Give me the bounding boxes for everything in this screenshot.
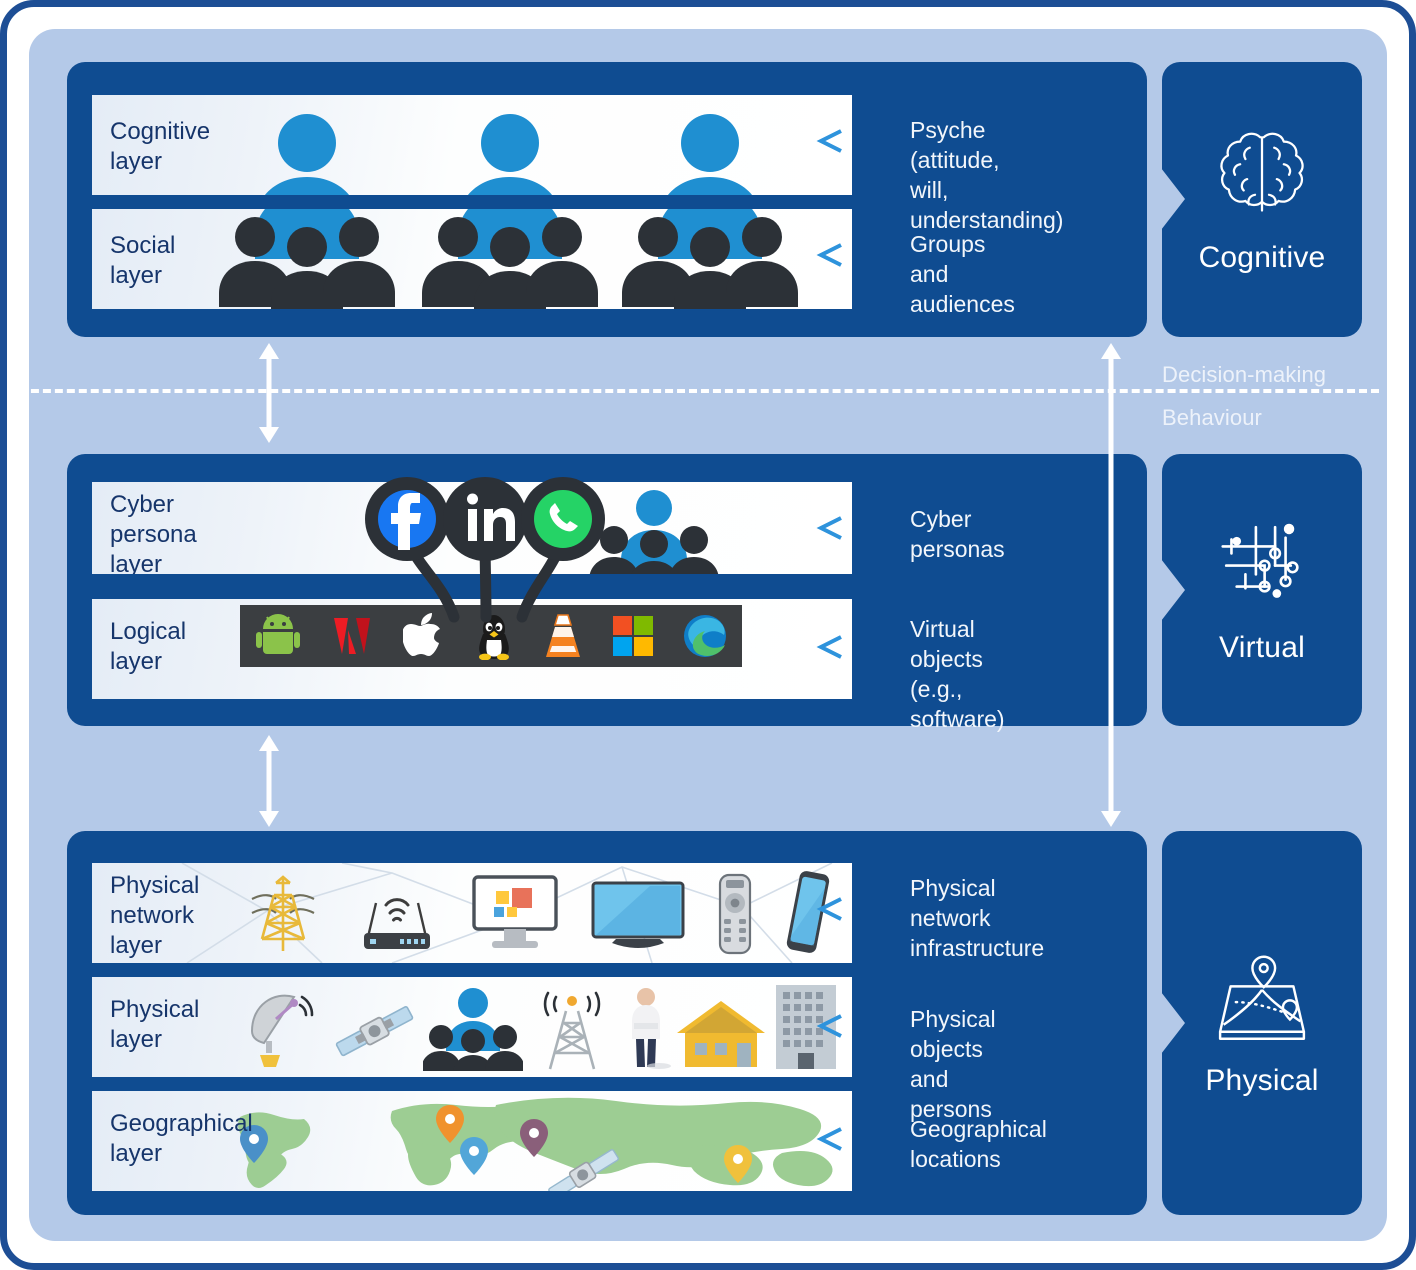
annotation-virtual-objects: Virtual objects (e.g., software): [910, 614, 1005, 734]
television-icon: [590, 879, 686, 955]
side-notch-physical: [1161, 992, 1185, 1054]
satellite-icon: [329, 993, 421, 1071]
side-panel-physical: Physical: [1162, 831, 1362, 1215]
row-cognitive-layer: Cognitive layer: [92, 95, 852, 195]
row-physical-network-layer: Physical network layer: [92, 863, 852, 963]
network-nodes-icon: [1208, 515, 1316, 611]
brain-icon: [1208, 125, 1316, 221]
cyber-persona-pins: [362, 477, 622, 667]
physical-layer-label: Physical layer: [110, 995, 199, 1055]
side-label-cognitive: Cognitive: [1199, 241, 1326, 275]
annotation-arrow-cyber-personas: [815, 516, 907, 540]
people-group-icon: [423, 985, 523, 1071]
whatsapp-icon: [521, 477, 605, 561]
android-icon: [255, 614, 301, 658]
side-notch-virtual: [1161, 559, 1185, 621]
physical-layer-icons: [242, 983, 842, 1071]
annotation-arrow-physical-objects: [815, 1014, 907, 1038]
map-pin-icon: [1208, 948, 1316, 1044]
annotation-geographical: Geographical locations: [910, 1114, 1047, 1174]
facebook-icon: [365, 477, 449, 561]
side-panel-virtual: Virtual: [1162, 454, 1362, 726]
cyber-persona-layer-label: Cyber persona layer: [110, 490, 197, 574]
annotation-arrow-geographical: [815, 1127, 907, 1151]
physical-network-icons: [242, 871, 832, 955]
edge-icon: [683, 614, 727, 658]
person-blue-3: [658, 114, 762, 195]
annotation-cyber-personas: Cyber personas: [910, 504, 1005, 564]
row-physical-layer: Physical layer: [92, 977, 852, 1077]
map-pin-cyan: [460, 1137, 488, 1175]
annotation-psyche: Psyche (attitude, will, understanding): [910, 115, 1063, 235]
cognitive-layer-label: Cognitive layer: [110, 117, 210, 177]
group-dark-2: [422, 217, 598, 309]
standing-person-icon: [621, 983, 671, 1071]
annotation-arrow-physical-network: [815, 897, 907, 921]
social-layer-art: [92, 209, 852, 309]
row-geographical-layer: Geographical layer: [92, 1091, 852, 1191]
person-blue-2: [458, 114, 562, 195]
annotation-physical-network: Physical network infrastructure: [910, 873, 1044, 963]
linkedin-icon: [443, 477, 527, 561]
side-label-physical: Physical: [1205, 1064, 1318, 1098]
annotation-arrow-virtual-objects: [815, 635, 907, 659]
social-layer-label: Social layer: [110, 231, 175, 291]
decision-behaviour-divider: [7, 389, 1379, 393]
geographical-layer-label: Geographical layer: [110, 1109, 253, 1169]
annotation-physical-objects: Physical objects and persons: [910, 1004, 996, 1124]
row-social-layer: Social layer: [92, 209, 852, 309]
divider-label-behaviour: Behaviour: [1162, 405, 1262, 431]
remote-control-icon: [716, 873, 754, 955]
wifi-router-icon: [354, 875, 440, 955]
annotation-arrow-groups: [815, 243, 907, 267]
diagram-frame: Cognitive layer: [0, 0, 1416, 1270]
cell-tower-icon: [524, 983, 620, 1071]
physical-network-layer-label: Physical network layer: [110, 871, 199, 961]
side-panel-cognitive: Cognitive: [1162, 62, 1362, 337]
side-notch-cognitive: [1161, 168, 1185, 230]
person-blue-1: [255, 114, 359, 195]
group-dark-1: [219, 217, 395, 309]
connector-virtual-physical: [253, 735, 285, 827]
connector-cognitive-physical: [1095, 343, 1127, 827]
desktop-monitor-icon: [470, 873, 560, 955]
satellite-dish-icon: [242, 985, 328, 1071]
connector-cognitive-virtual: [253, 343, 285, 443]
side-label-virtual: Virtual: [1219, 631, 1305, 665]
power-pylon-icon: [242, 873, 324, 955]
divider-label-decision-making: Decision-making: [1162, 362, 1326, 388]
group-dark-3: [622, 217, 798, 309]
annotation-groups: Groups and audiences: [910, 229, 1015, 319]
house-icon: [673, 997, 769, 1071]
logical-layer-label: Logical layer: [110, 617, 186, 677]
annotation-arrow-psyche: [815, 129, 907, 153]
